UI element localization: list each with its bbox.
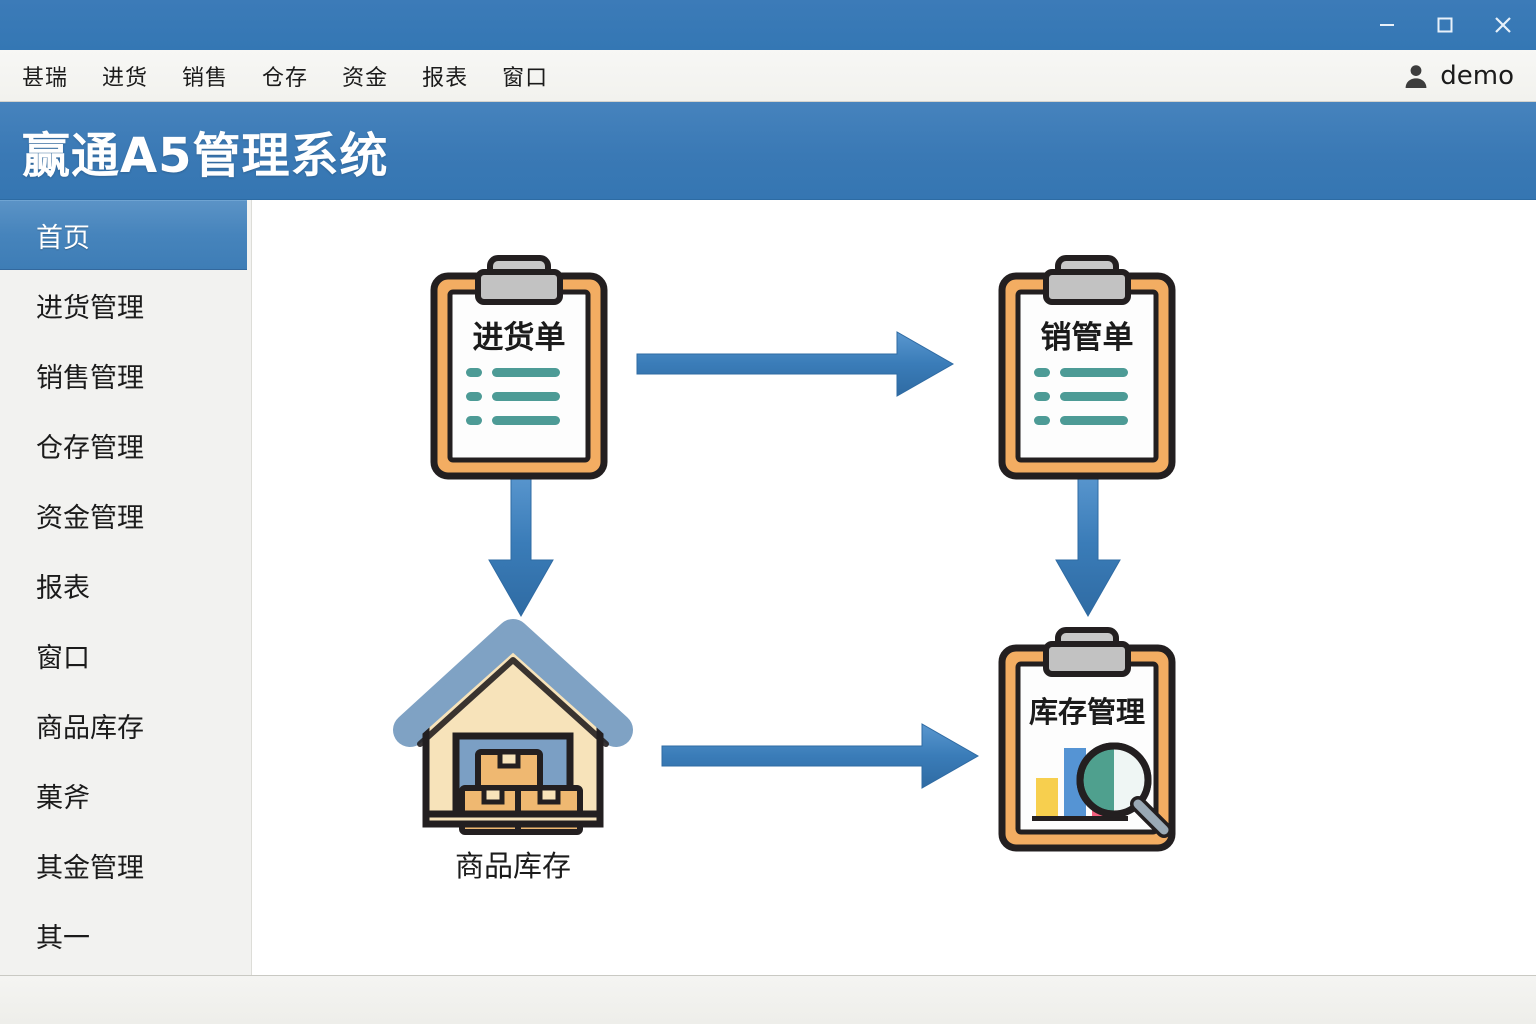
menu-item-base[interactable]: 甚瑞 xyxy=(22,60,68,92)
sidebar: 首页 进货管理 销售管理 仓存管理 资金管理 报表 窗口 商品库存 菓斧 其金管… xyxy=(0,200,252,975)
menu-item-list: 甚瑞 进货 销售 仓存 资金 报表 窗口 xyxy=(0,60,548,92)
menu-item-sales[interactable]: 销售 xyxy=(182,60,228,92)
arrow-purchase-to-sales xyxy=(637,332,953,396)
app-title: 赢通A5管理系统 xyxy=(22,116,389,186)
sidebar-item-reports[interactable]: 报表 xyxy=(0,550,251,620)
sidebar-item-stock[interactable]: 仓存管理 xyxy=(0,410,251,480)
brand-bar: 赢通A5管理系统 xyxy=(0,102,1536,200)
menu-item-reports[interactable]: 报表 xyxy=(422,60,468,92)
node-inventory-management[interactable]: 库存管理 xyxy=(1002,630,1172,848)
minimize-icon xyxy=(1376,14,1398,36)
sidebar-item-home[interactable]: 首页 xyxy=(0,200,247,270)
sidebar-item-purchase[interactable]: 进货管理 xyxy=(0,270,251,340)
user-account-area[interactable]: demo xyxy=(1402,50,1514,102)
sidebar-item-window[interactable]: 窗口 xyxy=(0,620,251,690)
node-label-purchase-order: 进货单 xyxy=(473,320,566,356)
clipboard-clip xyxy=(1046,272,1128,302)
sidebar-item-other-funds[interactable]: 其金管理 xyxy=(0,830,251,900)
sidebar-item-misc[interactable]: 菓斧 xyxy=(0,760,251,830)
title-bar xyxy=(0,0,1536,50)
sidebar-item-other[interactable]: 其一 xyxy=(0,900,251,970)
content-area: 进货单 销管单 xyxy=(252,200,1536,975)
menu-bar: 甚瑞 进货 销售 仓存 资金 报表 窗口 demo xyxy=(0,50,1536,102)
node-label-sales-order: 销管单 xyxy=(1041,320,1134,356)
node-sales-order[interactable]: 销管单 xyxy=(1002,258,1172,476)
workflow-diagram: 进货单 销管单 xyxy=(252,200,1536,975)
node-label-warehouse: 商品库存 xyxy=(455,849,571,883)
node-purchase-order[interactable]: 进货单 xyxy=(434,258,604,476)
minimize-button[interactable] xyxy=(1364,8,1410,42)
sidebar-item-goods-stock[interactable]: 商品库存 xyxy=(0,690,251,760)
menu-item-window[interactable]: 窗口 xyxy=(502,60,548,92)
arrow-purchase-to-warehouse xyxy=(489,472,553,616)
clipboard-clip xyxy=(478,272,560,302)
menu-item-funds[interactable]: 资金 xyxy=(342,60,388,92)
main-body: 首页 进货管理 销售管理 仓存管理 资金管理 报表 窗口 商品库存 菓斧 其金管… xyxy=(0,200,1536,975)
sidebar-item-funds[interactable]: 资金管理 xyxy=(0,480,251,550)
user-name-label: demo xyxy=(1440,61,1514,91)
application-window: 甚瑞 进货 销售 仓存 资金 报表 窗口 demo 赢通A5管理系统 首页 进货… xyxy=(0,0,1536,1024)
maximize-icon xyxy=(1434,14,1456,36)
menu-item-stock[interactable]: 仓存 xyxy=(262,60,308,92)
status-bar xyxy=(0,975,1536,1024)
menu-item-purchase[interactable]: 进货 xyxy=(102,60,148,92)
arrow-sales-to-inventory xyxy=(1056,472,1120,616)
clipboard-clip xyxy=(1046,644,1128,674)
node-label-inventory-management: 库存管理 xyxy=(1029,695,1145,729)
maximize-button[interactable] xyxy=(1422,8,1468,42)
node-warehouse[interactable]: 商品库存 xyxy=(406,634,620,883)
sidebar-item-sales[interactable]: 销售管理 xyxy=(0,340,251,410)
user-avatar-icon xyxy=(1402,62,1430,90)
arrow-warehouse-to-inventory xyxy=(662,724,978,788)
close-icon xyxy=(1491,13,1515,37)
close-button[interactable] xyxy=(1480,8,1526,42)
